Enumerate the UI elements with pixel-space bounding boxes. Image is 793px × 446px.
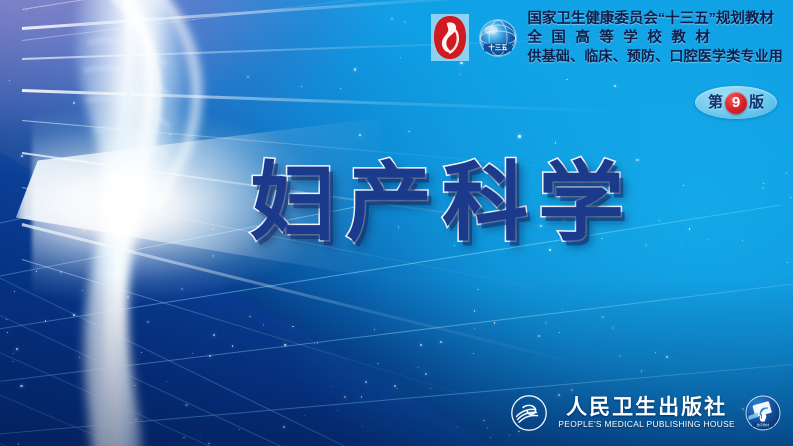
series-line-1: 国家卫生健康委员会“十三五”规划教材 xyxy=(527,10,783,29)
publisher-block: 人民卫生出版社 PEOPLE'S MEDICAL PUBLISHING HOUS… xyxy=(510,394,781,432)
publisher-names: 人民卫生出版社 PEOPLE'S MEDICAL PUBLISHING HOUS… xyxy=(558,396,735,430)
series-line-2: 全国高等学校教材 xyxy=(527,29,783,48)
publisher-name-en: PEOPLE'S MEDICAL PUBLISHING HOUSE xyxy=(558,419,735,430)
edition-number: 9 xyxy=(725,92,747,114)
edition-suffix: 版 xyxy=(749,95,764,110)
series-text-block: 国家卫生健康委员会“十三五”规划教材 全国高等学校教材 供基础、临床、预防、口腔… xyxy=(527,10,783,66)
book-title: 妇产科学 xyxy=(250,160,634,246)
edition-badge: 第 9 版 xyxy=(695,86,777,119)
digital-icon-label: 数字教材 xyxy=(757,422,769,427)
edition-prefix: 第 xyxy=(708,95,723,110)
publisher-name-cn: 人民卫生出版社 xyxy=(566,396,727,419)
book-cover: 十三五 国家卫生健康委员会“十三五”规划教材 全国高等学校教材 供基础、临床、预… xyxy=(0,0,793,446)
blue-globe-135-icon: 十三五 xyxy=(478,18,518,58)
series-header: 十三五 国家卫生健康委员会“十三五”规划教材 全国高等学校教材 供基础、临床、预… xyxy=(431,10,783,66)
globe-135-label: 十三五 xyxy=(489,42,509,51)
pmph-circular-mark-icon xyxy=(510,394,548,432)
digital-textbook-icon: 数字教材 xyxy=(745,395,781,431)
book-title-text: 妇产科学 xyxy=(250,155,634,251)
pmph-red-person-logo-icon xyxy=(431,14,469,61)
series-line-3: 供基础、临床、预防、口腔医学类专业用 xyxy=(527,47,783,66)
